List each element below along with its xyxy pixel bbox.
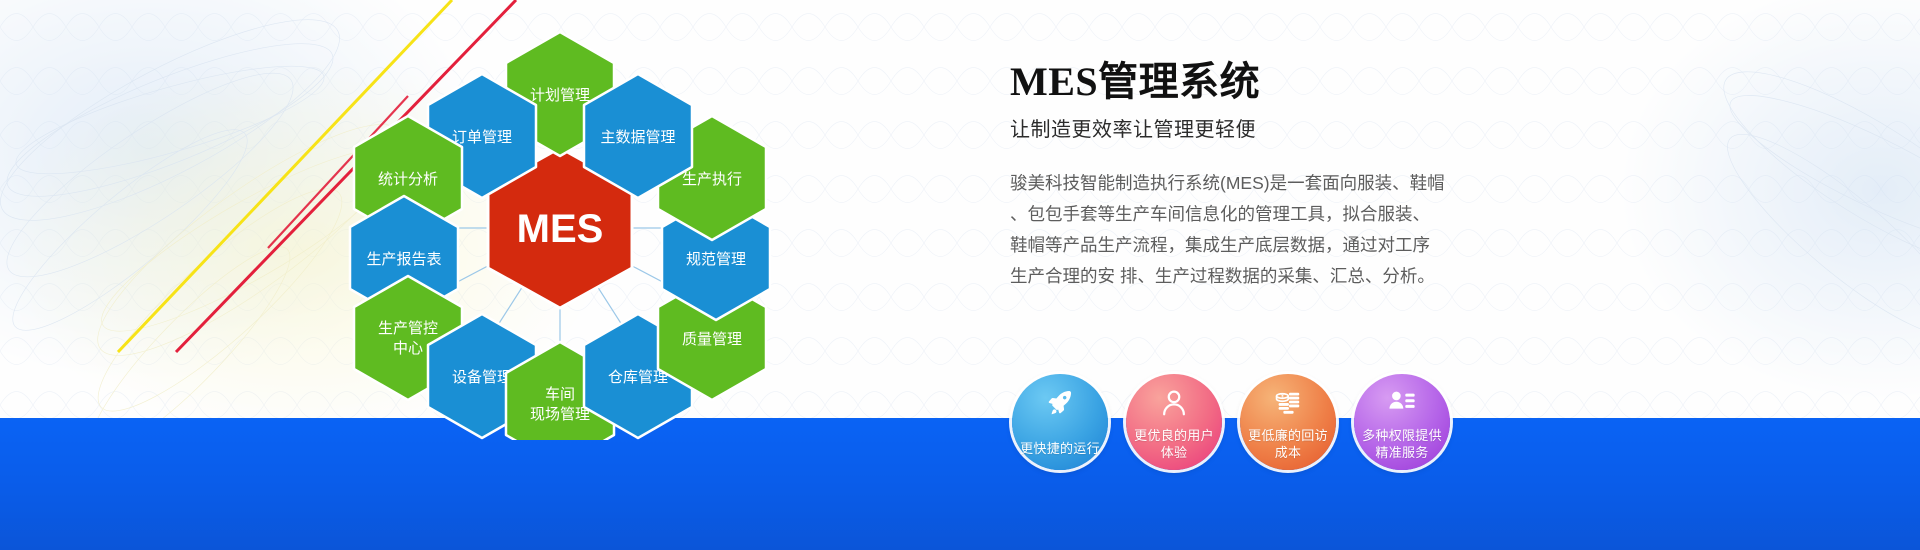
diagram-node-label-2: 现场管理 — [530, 406, 590, 423]
page-title: MES管理系统 — [1010, 60, 1650, 105]
diagram-node-label: 规范管理 — [686, 251, 746, 268]
feature-badge-label: 更低廉的回访 — [1244, 427, 1332, 444]
feature-badge-faster-operation[interactable]: 更快捷的运行 — [1012, 374, 1108, 470]
diagram-node-label: 主数据管理 — [600, 129, 675, 146]
banner-stage: MES 计划管理 订单管理 统计分析 生产报告表 生产管控 — [0, 0, 1920, 550]
bottom-blue-band — [0, 418, 1920, 550]
mes-hexagon-diagram: MES 计划管理 订单管理 统计分析 生产报告表 生产管控 — [330, 20, 790, 440]
diagram-center-label: MES — [517, 207, 604, 251]
diagram-node-label: 车间 — [545, 386, 575, 403]
user-list-icon — [1385, 386, 1419, 420]
description-line: 鞋帽等产品生产流程，集成生产底层数据，通过对工序 — [1010, 230, 1580, 261]
diagram-node-label: 质量管理 — [682, 331, 742, 348]
diagram-node-label: 设备管理 — [452, 369, 512, 386]
hero-description: 骏美科技智能制造执行系统(MES)是一套面向服装、鞋帽 、包包手套等生产车间信息… — [1010, 168, 1580, 292]
description-line: 生产合理的安 排、生产过程数据的采集、汇总、分析。 — [1010, 261, 1580, 292]
feature-badge-label-2: 体验 — [1130, 444, 1218, 461]
feature-badge-label: 多种权限提供 — [1358, 427, 1446, 444]
diagram-node-label: 生产管控 — [378, 320, 438, 337]
page-subtitle: 让制造更效率让管理更轻便 — [1010, 113, 1650, 142]
hero-content: MES管理系统 让制造更效率让管理更轻便 骏美科技智能制造执行系统(MES)是一… — [1010, 60, 1650, 292]
description-line: 骏美科技智能制造执行系统(MES)是一套面向服装、鞋帽 — [1010, 168, 1580, 199]
diagram-node-label: 生产执行 — [682, 171, 742, 188]
feature-badge-label: 更快捷的运行 — [1016, 440, 1104, 457]
feature-badge-list: 更快捷的运行 更优良的用户 体验 ¥ — [1012, 374, 1450, 470]
rocket-icon — [1043, 386, 1077, 420]
diagram-node-label: 订单管理 — [452, 129, 512, 146]
diagram-node-label: 仓库管理 — [608, 369, 668, 386]
feature-badge-label: 更优良的用户 — [1130, 427, 1218, 444]
feature-badge-label-2: 成本 — [1244, 444, 1332, 461]
user-icon — [1157, 386, 1191, 420]
feature-badge-lower-cost[interactable]: ¥ 更低廉的回访 成本 — [1240, 374, 1336, 470]
feature-badge-label-2: 精准服务 — [1358, 444, 1446, 461]
feature-badge-permissions[interactable]: 多种权限提供 精准服务 — [1354, 374, 1450, 470]
diagram-node-label: 统计分析 — [378, 171, 438, 188]
diagram-node-label: 计划管理 — [530, 87, 590, 104]
feature-badge-better-experience[interactable]: 更优良的用户 体验 — [1126, 374, 1222, 470]
diagram-node-label: 生产报告表 — [366, 251, 441, 268]
diagram-node-label-2: 中心 — [393, 340, 423, 357]
description-line: 、包包手套等生产车间信息化的管理工具，拟合服装、 — [1010, 199, 1580, 230]
coins-icon: ¥ — [1271, 386, 1305, 420]
